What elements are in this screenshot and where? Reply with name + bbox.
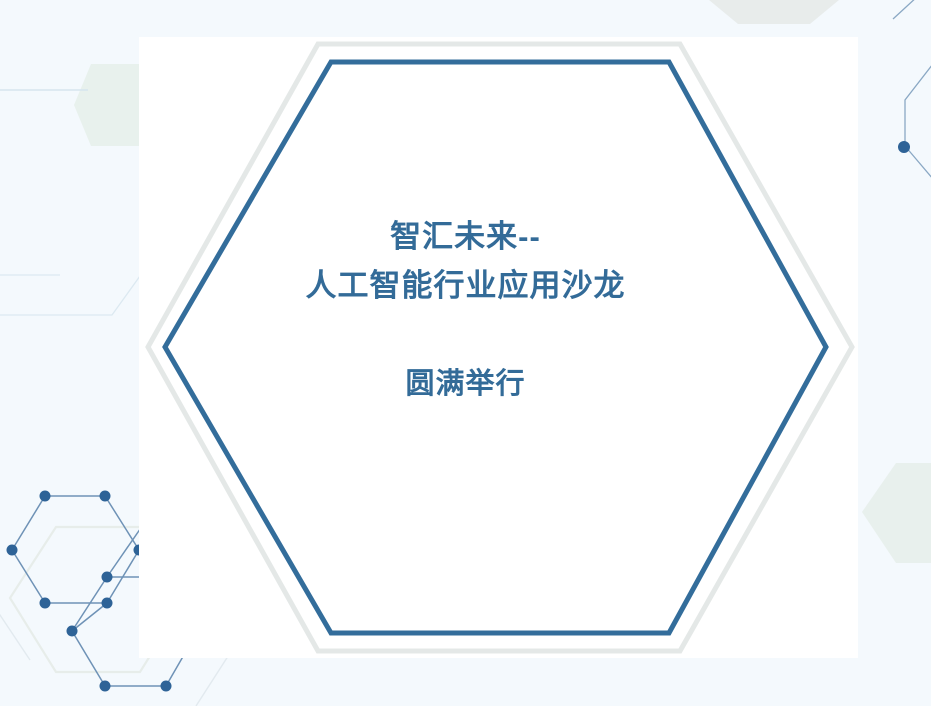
network-node xyxy=(100,681,111,692)
network-node xyxy=(67,626,78,637)
decor-hexagon-right xyxy=(862,463,931,563)
network-node xyxy=(40,598,51,609)
network-node xyxy=(102,572,113,583)
network-node xyxy=(898,141,910,153)
network-node xyxy=(40,491,51,502)
network-node xyxy=(7,545,18,556)
headline-line-1: 智汇未来-- xyxy=(0,212,931,261)
network-node xyxy=(102,598,113,609)
network-node xyxy=(161,681,172,692)
subtitle-block: 圆满举行 xyxy=(0,364,931,404)
presentation-slide: 智汇未来-- 人工智能行业应用沙龙 圆满举行 xyxy=(0,0,931,706)
headline-block: 智汇未来-- 人工智能行业应用沙龙 xyxy=(0,212,931,310)
subtitle-text: 圆满举行 xyxy=(0,364,931,404)
slide-content-panel xyxy=(139,37,858,658)
network-node xyxy=(100,491,111,502)
decor-hexagon-topright xyxy=(703,0,845,24)
headline-line-2: 人工智能行业应用沙龙 xyxy=(0,261,931,310)
